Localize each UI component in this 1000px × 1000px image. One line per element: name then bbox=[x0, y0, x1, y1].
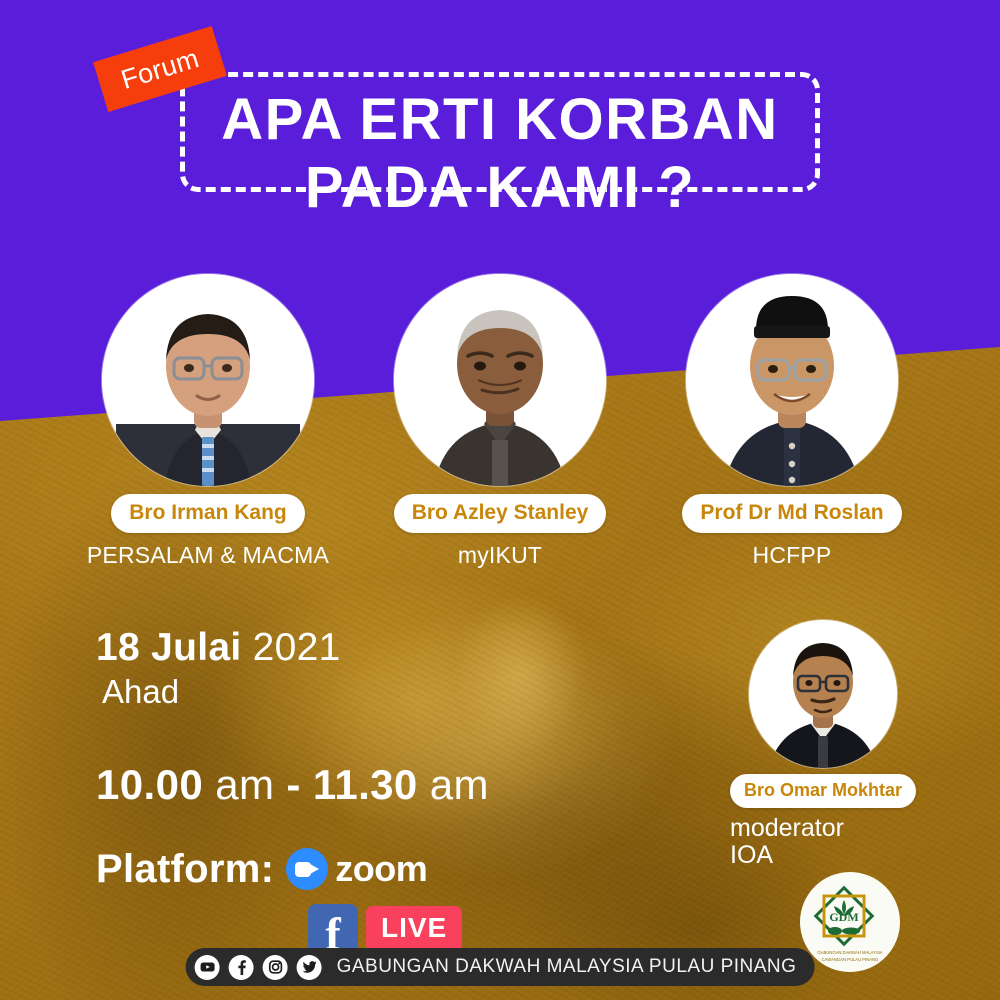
portrait-illustration-3 bbox=[686, 274, 898, 486]
gdm-logo: GDM GABUNGAN DAKWAH MALAYSIA CAWANGAN PU… bbox=[800, 872, 900, 972]
event-time-start: 10.00 bbox=[96, 761, 203, 808]
facebook-icon: f bbox=[308, 904, 358, 954]
zoom-camera-icon bbox=[286, 848, 328, 890]
speaker-name-3: Prof Dr Md Roslan bbox=[682, 494, 901, 533]
moderator-name: Bro Omar Mokhtar bbox=[730, 774, 916, 808]
portrait-illustration-2 bbox=[394, 274, 606, 486]
event-time: 10.00 am - 11.30 am bbox=[96, 761, 489, 809]
platform-row: Platform: zoom bbox=[96, 847, 489, 892]
facebook-icon[interactable] bbox=[229, 955, 254, 980]
event-time-end: 11.30 bbox=[313, 761, 418, 808]
moderator-card: Bro Omar Mokhtar moderator IOA bbox=[718, 620, 928, 869]
zoom-logo[interactable]: zoom bbox=[286, 848, 427, 890]
event-date: 18 Julai 2021 bbox=[96, 628, 489, 669]
portrait-illustration-1 bbox=[102, 274, 314, 486]
moderator-org: IOA bbox=[718, 842, 928, 869]
event-details: 18 Julai 2021 Ahad 10.00 am - 11.30 am P… bbox=[96, 628, 489, 954]
poster-canvas: Forum APA ERTI KORBAN PADA KAMI ? bbox=[0, 0, 1000, 1000]
instagram-icon[interactable] bbox=[263, 955, 288, 980]
platform-label: Platform: bbox=[96, 847, 274, 892]
avatar-omar-mokhtar bbox=[749, 620, 897, 768]
speaker-name-1: Bro Irman Kang bbox=[111, 494, 305, 533]
title-line-2: PADA KAMI ? bbox=[0, 154, 1000, 222]
event-time-start-unit: am bbox=[215, 761, 274, 808]
svg-text:GDM: GDM bbox=[829, 910, 858, 924]
speaker-card-1: Bro Irman Kang PERSALAM & MACMA bbox=[83, 274, 333, 569]
speaker-card-3: Prof Dr Md Roslan HCFPP bbox=[667, 274, 917, 569]
footer-bar: GABUNGAN DAKWAH MALAYSIA PULAU PINANG bbox=[186, 948, 815, 986]
gdm-caption-1: GABUNGAN DAKWAH MALAYSIA bbox=[817, 950, 882, 955]
event-time-end-unit: am bbox=[430, 761, 489, 808]
speaker-org-2: myIKUT bbox=[458, 542, 542, 569]
event-time-separator: - bbox=[286, 761, 300, 808]
facebook-live-row[interactable]: f LIVE bbox=[308, 904, 489, 954]
speaker-name-2: Bro Azley Stanley bbox=[394, 494, 607, 533]
youtube-icon[interactable] bbox=[195, 955, 220, 980]
avatar-irman-kang bbox=[102, 274, 314, 486]
speaker-card-2: Bro Azley Stanley myIKUT bbox=[375, 274, 625, 569]
avatar-azley-stanley bbox=[394, 274, 606, 486]
zoom-wordmark: zoom bbox=[335, 848, 427, 890]
moderator-role: moderator bbox=[718, 815, 928, 842]
page-title: APA ERTI KORBAN PADA KAMI ? bbox=[0, 86, 1000, 223]
event-date-day: 18 Julai bbox=[96, 626, 242, 669]
event-date-year: 2021 bbox=[253, 626, 341, 669]
live-badge: LIVE bbox=[366, 906, 462, 951]
avatar-md-roslan bbox=[686, 274, 898, 486]
speaker-org-3: HCFPP bbox=[753, 542, 832, 569]
speaker-org-1: PERSALAM & MACMA bbox=[87, 542, 329, 569]
gdm-caption-2: CAWANGAN PULAU PINANG bbox=[822, 957, 879, 962]
gdm-logo-mark: GDM GABUNGAN DAKWAH MALAYSIA CAWANGAN PU… bbox=[804, 876, 896, 968]
event-weekday: Ahad bbox=[102, 673, 489, 711]
portrait-illustration-moderator bbox=[749, 620, 897, 768]
speaker-list: Bro Irman Kang PERSALAM & MACMA bbox=[0, 274, 1000, 569]
footer-organization: GABUNGAN DAKWAH MALAYSIA PULAU PINANG bbox=[337, 956, 797, 978]
twitter-icon[interactable] bbox=[297, 955, 322, 980]
